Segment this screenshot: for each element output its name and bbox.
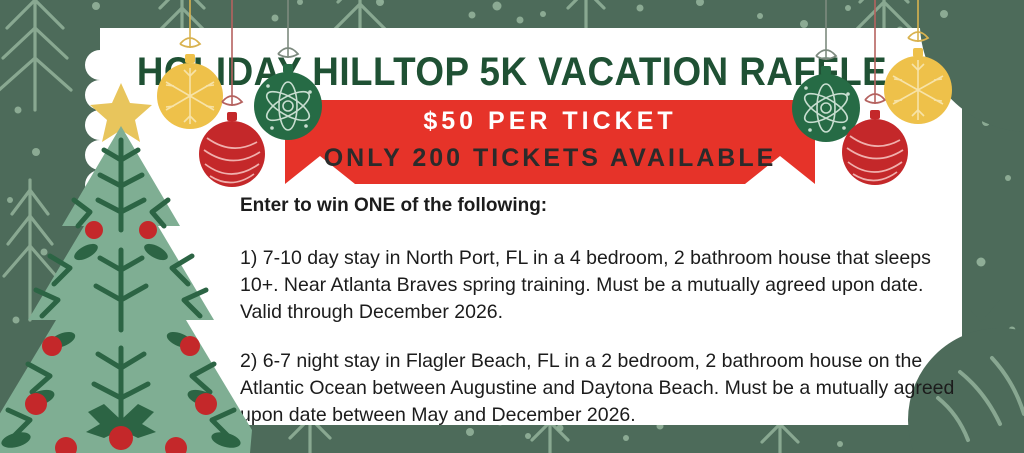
holiday-raffle-poster: HOLIDAY HILLTOP 5K VACATION RAFFLE $50 P… — [0, 0, 1024, 453]
ornament-cluster-right — [0, 0, 1024, 453]
gold-ornament-right — [884, 0, 952, 124]
green-ornament-right — [792, 0, 860, 142]
